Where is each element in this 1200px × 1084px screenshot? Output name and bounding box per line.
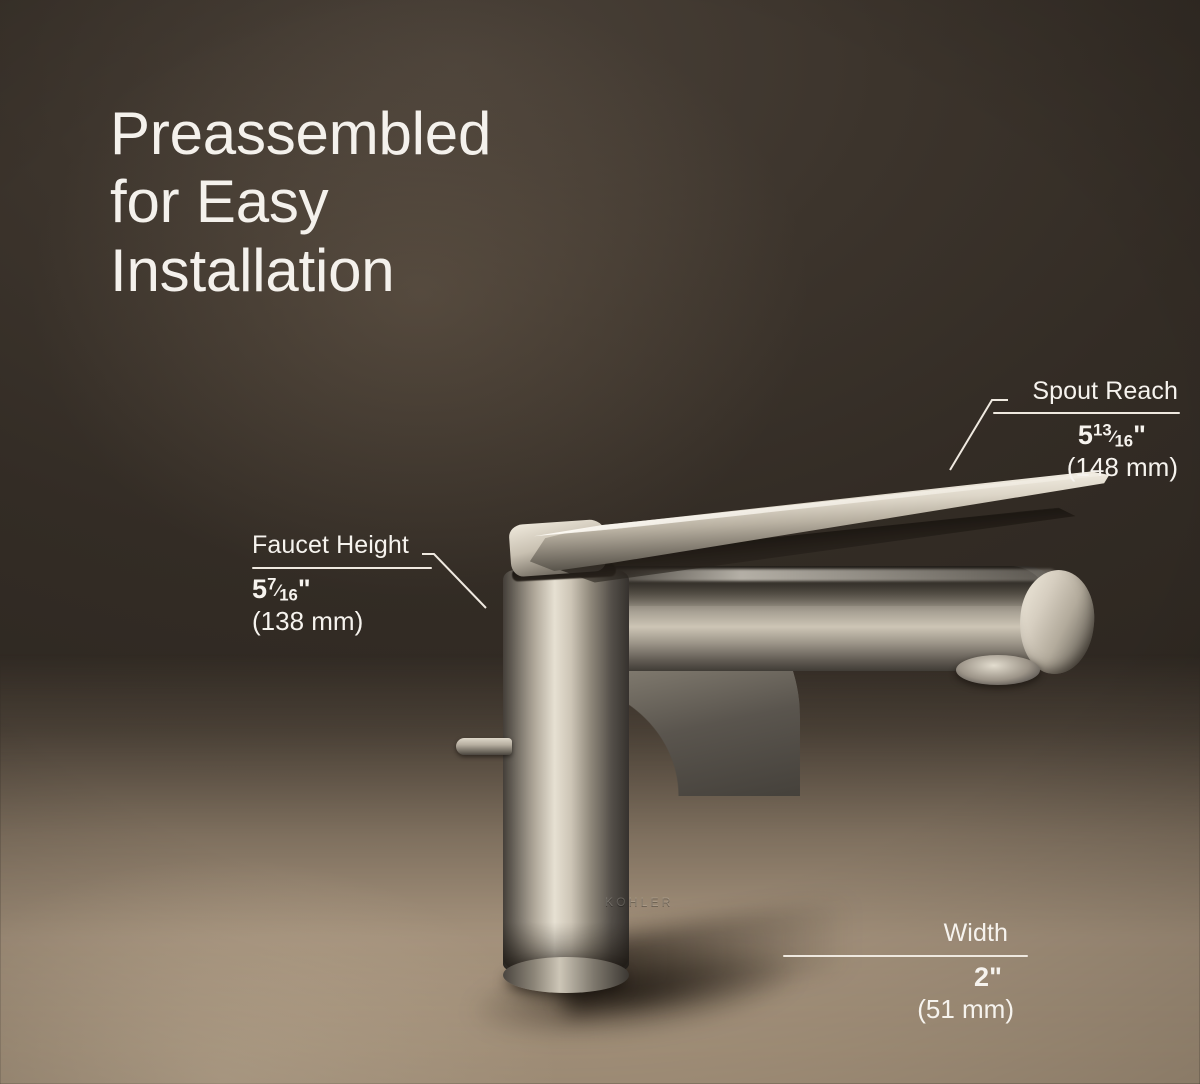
callout-spout-reach-rule bbox=[993, 412, 1180, 414]
faucet-body bbox=[503, 570, 629, 980]
value-unit: " bbox=[989, 962, 1002, 992]
callout-width-rule bbox=[783, 955, 1028, 957]
callout-faucet-height-rule bbox=[252, 567, 432, 569]
value-denominator: 16 bbox=[1114, 431, 1133, 450]
value-fraction: 7⁄16 bbox=[267, 581, 298, 601]
value-numerator: 7 bbox=[267, 574, 276, 593]
value-numerator: 13 bbox=[1093, 420, 1112, 439]
callout-width: Width 2" (51 mm) bbox=[778, 920, 1028, 1026]
brand-wordmark: KOHLER bbox=[605, 895, 674, 909]
value-whole: 5 bbox=[1078, 420, 1093, 450]
value-whole: 5 bbox=[252, 574, 267, 604]
callout-width-label: Width bbox=[778, 920, 1028, 948]
callout-width-metric: (51 mm) bbox=[778, 993, 1028, 1026]
callout-faucet-height-value: 57⁄16" bbox=[252, 573, 492, 606]
callout-faucet-height: Faucet Height 57⁄16" (138 mm) bbox=[252, 532, 492, 638]
value-denominator: 16 bbox=[279, 585, 298, 604]
value-unit: " bbox=[298, 574, 311, 604]
faucet-base bbox=[503, 957, 629, 993]
callout-spout-reach-label: Spout Reach bbox=[930, 378, 1180, 406]
value-unit: " bbox=[1133, 420, 1146, 450]
callout-spout-reach: Spout Reach 513⁄16" (148 mm) bbox=[930, 378, 1180, 484]
value-whole: 2 bbox=[974, 962, 989, 992]
callout-faucet-height-label: Faucet Height bbox=[252, 532, 492, 560]
callout-width-value: 2" bbox=[778, 961, 1028, 994]
value-fraction: 13⁄16 bbox=[1093, 427, 1133, 447]
faucet-aerator bbox=[956, 655, 1040, 685]
callout-faucet-height-metric: (138 mm) bbox=[252, 605, 492, 638]
page-title: Preassembled for Easy Installation bbox=[110, 100, 491, 305]
callout-spout-reach-value: 513⁄16" bbox=[930, 419, 1180, 452]
product-dimension-graphic: Preassembled for Easy Installation KOHLE… bbox=[0, 0, 1200, 1084]
callout-spout-reach-metric: (148 mm) bbox=[930, 451, 1180, 484]
faucet-lift-rod bbox=[456, 738, 512, 755]
